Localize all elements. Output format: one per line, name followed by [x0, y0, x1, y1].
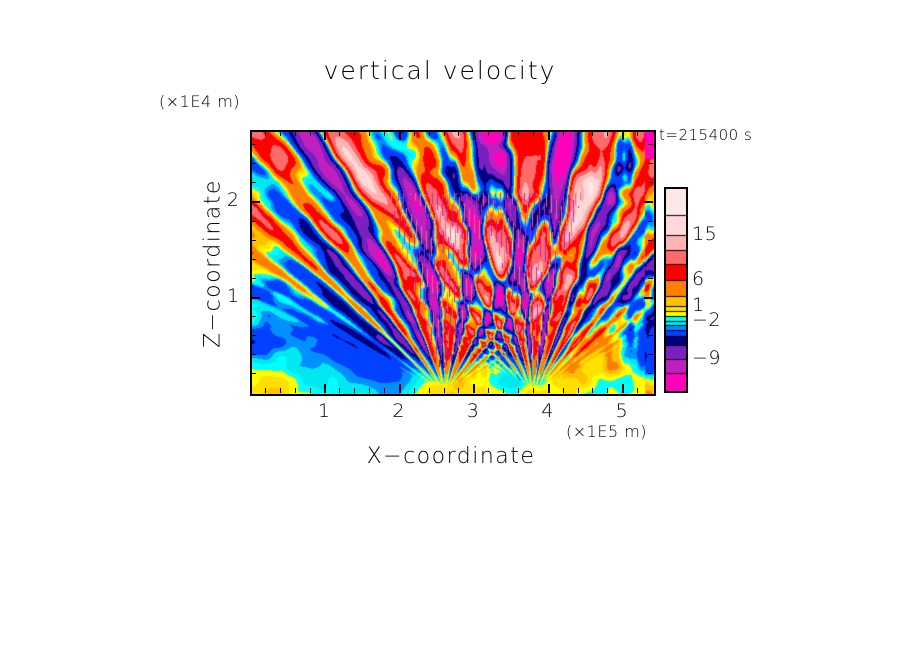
tick-mark [339, 388, 340, 393]
colorbar-swatches [666, 189, 686, 391]
tick-mark [592, 388, 593, 393]
tick-mark [324, 384, 326, 393]
tick-mark [503, 388, 504, 393]
y-axis-title: Z−coordinate [201, 114, 226, 414]
tick-mark [578, 388, 579, 393]
tick-mark [251, 278, 256, 279]
tick-mark [384, 388, 385, 393]
tick-mark [251, 354, 256, 355]
tick-mark [251, 163, 256, 164]
tick-mark [648, 354, 653, 355]
tick-mark [622, 131, 624, 140]
tick-mark [503, 131, 504, 136]
tick-mark [444, 131, 445, 136]
tick-mark [251, 259, 256, 260]
tick-mark [637, 388, 638, 393]
tick-mark [458, 131, 459, 136]
colorbar-tick-label: 6 [692, 268, 705, 290]
tick-mark [384, 131, 385, 136]
tick-mark [648, 373, 653, 374]
tick-mark [310, 388, 311, 393]
tick-mark [648, 163, 653, 164]
tick-mark [607, 131, 608, 136]
x-tick-label: 3 [453, 400, 493, 422]
tick-mark [251, 240, 256, 241]
tick-mark [399, 131, 401, 140]
colorbar-tick-label: −2 [692, 309, 721, 331]
tick-mark [354, 388, 355, 393]
tick-mark [488, 131, 489, 136]
page-title: vertical velocity [90, 56, 790, 85]
tick-mark [637, 131, 638, 136]
tick-mark [644, 201, 653, 203]
tick-mark [295, 131, 296, 136]
colorbar-tick-label: −9 [692, 347, 721, 369]
tick-mark [265, 131, 266, 136]
tick-mark [473, 384, 475, 393]
tick-mark [429, 388, 430, 393]
tick-mark [607, 388, 608, 393]
tick-mark [473, 131, 475, 140]
tick-mark [339, 131, 340, 136]
tick-mark [251, 144, 256, 145]
y-axis-unit-label: (×1E4 m) [159, 92, 240, 111]
tick-mark [563, 388, 564, 393]
tick-mark [280, 388, 281, 393]
tick-mark [578, 131, 579, 136]
x-tick-label: 1 [304, 400, 344, 422]
tick-mark [369, 388, 370, 393]
tick-mark [648, 221, 653, 222]
tick-mark [444, 388, 445, 393]
tick-mark [533, 388, 534, 393]
tick-mark [563, 131, 564, 136]
tick-mark [648, 240, 653, 241]
tick-mark [648, 182, 653, 183]
tick-mark [533, 131, 534, 136]
x-axis-unit-label: (×1E5 m) [566, 422, 647, 441]
tick-mark [414, 131, 415, 136]
tick-mark [458, 388, 459, 393]
tick-mark [518, 131, 519, 136]
timestamp-label: t=215400 s [659, 126, 752, 144]
tick-mark [622, 384, 624, 393]
tick-mark [251, 335, 256, 336]
x-tick-label: 5 [602, 400, 642, 422]
tick-mark [648, 316, 653, 317]
tick-mark [369, 131, 370, 136]
tick-mark [280, 131, 281, 136]
figure-canvas: vertical velocity (×1E4 m) t=215400 s 12… [0, 0, 904, 654]
tick-mark [648, 259, 653, 260]
tick-mark [648, 144, 653, 145]
tick-mark [251, 316, 256, 317]
tick-mark [548, 384, 550, 393]
tick-mark [251, 221, 256, 222]
x-tick-label: 4 [528, 400, 568, 422]
tick-mark [251, 297, 260, 299]
tick-mark [648, 335, 653, 336]
tick-mark [310, 131, 311, 136]
tick-mark [429, 131, 430, 136]
tick-mark [399, 384, 401, 393]
x-axis-title: X−coordinate [250, 444, 652, 469]
tick-mark [251, 373, 256, 374]
tick-mark [414, 388, 415, 393]
tick-mark [354, 131, 355, 136]
tick-mark [518, 388, 519, 393]
tick-mark [324, 131, 326, 140]
tick-mark [251, 201, 260, 203]
vertical-velocity-field [252, 132, 654, 394]
x-tick-label: 2 [379, 400, 419, 422]
tick-mark [592, 131, 593, 136]
tick-mark [295, 388, 296, 393]
tick-mark [648, 278, 653, 279]
colorbar-tick-label: 15 [692, 223, 717, 245]
tick-mark [548, 131, 550, 140]
tick-mark [644, 297, 653, 299]
tick-mark [488, 388, 489, 393]
tick-mark [251, 182, 256, 183]
tick-mark [265, 388, 266, 393]
